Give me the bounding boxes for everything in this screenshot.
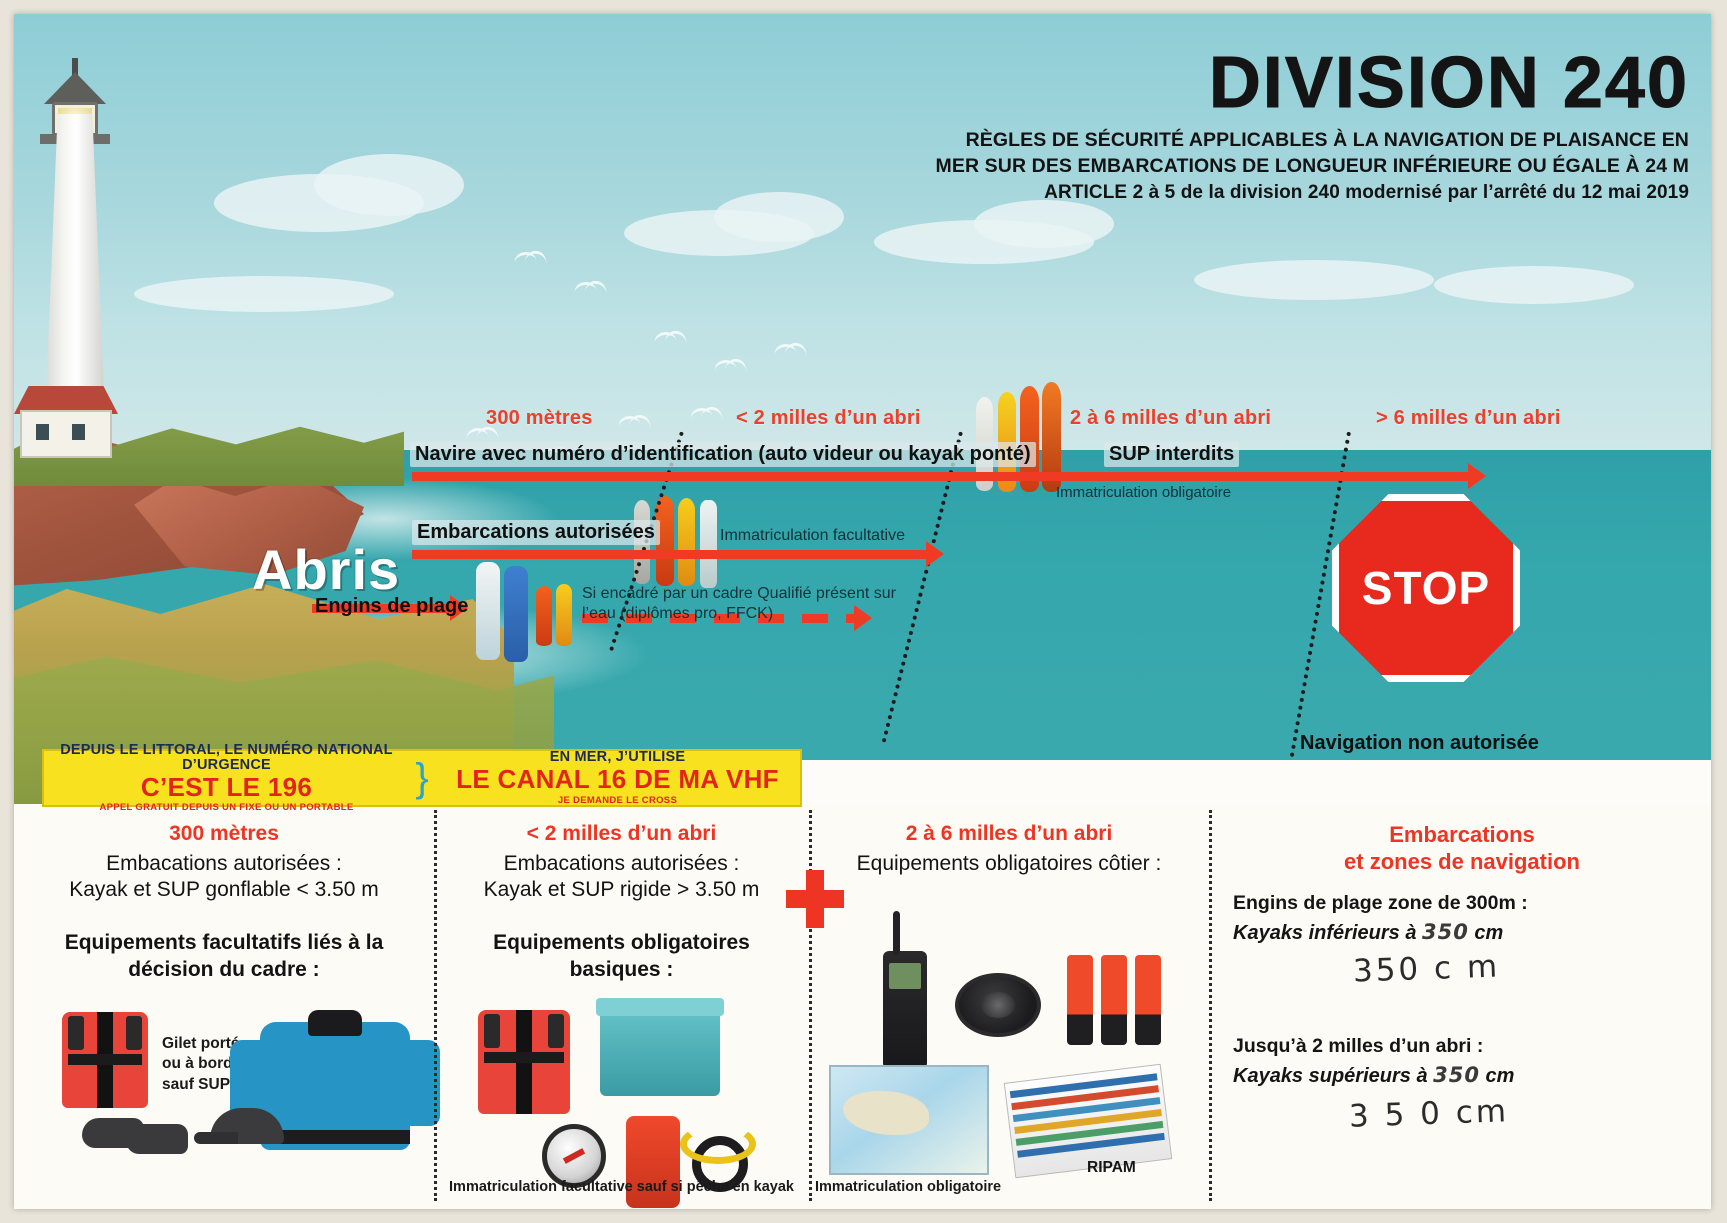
band-label-engins-de-plage: Engins de plage (310, 594, 473, 619)
brace-divider-icon: } (409, 758, 435, 798)
emergency-left-line2: C’EST LE 196 (44, 774, 409, 801)
band-label-embarcations: Embarcations autorisées (412, 520, 660, 545)
column-300m-equipment: Gilet porté ou à bord sauf SUP (24, 996, 424, 1223)
band-note-encadrement-l1: Si encadré par un cadre Qualifié présent… (582, 584, 896, 604)
cloud (714, 192, 844, 242)
header: DIVISION 240 RÈGLES DE SÉCURITÉ APPLICAB… (936, 48, 1690, 207)
vhf-radio-icon (883, 951, 927, 1069)
column-2-6milles-line1: Equipements obligatoires côtier : (819, 851, 1199, 877)
lifejacket-icon (62, 1012, 148, 1108)
keeper-window (72, 424, 85, 440)
column-300m-title: 300 mètres (24, 822, 424, 846)
column-c4-handwritten-2-wrap: 3 5 0 cm (1233, 1096, 1691, 1132)
column-c4-handwritten-inline-2: 350 (1433, 1063, 1480, 1087)
column-2milles-sub2: basiques : (444, 957, 799, 984)
kayak-icon (678, 498, 695, 586)
column-2-6milles-equipment: RIPAM (819, 903, 1199, 1153)
flare-icon (1101, 955, 1127, 1045)
column-c4-italic-1-pre: Kayaks inférieurs à (1233, 922, 1422, 944)
emergency-left-line3: APPEL GRATUIT DEPUIS UN FIXE OU UN PORTA… (44, 803, 409, 813)
stop-octagon: STOP (1332, 494, 1520, 682)
column-2milles-line2: Kayak et SUP rigide > 3.50 m (444, 877, 799, 903)
dry-box-lid (596, 998, 724, 1016)
header-subtitle: RÈGLES DE SÉCURITÉ APPLICABLES À LA NAVI… (936, 127, 1690, 207)
column-300m-sub2: décision du cadre : (24, 957, 424, 984)
header-subtitle-line3: ARTICLE 2 à 5 de la division 240 moderni… (936, 180, 1690, 206)
band-label-sup-interdits: SUP interdits (1104, 442, 1239, 467)
jacket-neck (308, 1010, 362, 1036)
column-c4-italic-2: Kayaks supérieurs à 350 cm (1233, 1063, 1691, 1088)
cloud (134, 276, 394, 312)
zone-label-2-6milles: 2 à 6 milles d’un abri (1070, 407, 1271, 430)
column-2milles-title: < 2 milles d’un abri (444, 822, 799, 846)
column-2milles-sub1: Equipements obligatoires (444, 930, 799, 957)
zone-label-300m: 300 mètres (486, 407, 593, 430)
keeper-house (20, 410, 112, 458)
emergency-left: DEPUIS LE LITTORAL, LE NUMÉRO NATIONAL D… (44, 743, 409, 814)
bow-line-icon (680, 1124, 756, 1164)
lifejacket-caption: Gilet porté ou à bord sauf SUP (162, 1034, 240, 1096)
column-2-6milles-title: 2 à 6 milles d’un abri (819, 822, 1199, 846)
column-300m-line1: Embacations autorisées : (24, 851, 424, 877)
dry-box-icon (600, 1010, 720, 1096)
column-c4-italic-1-post: cm (1469, 922, 1503, 944)
lifejacket-strap (548, 1014, 564, 1048)
abris-label: Abris (252, 537, 400, 602)
column-embarcations-zones: Embarcations et zones de navigation Engi… (1209, 804, 1709, 1209)
column-c4-heading-1: Engins de plage zone de 300m : (1233, 892, 1691, 915)
column-c4-handwritten-2: 3 5 0 cm (1348, 1093, 1509, 1135)
arrow-band-1 (412, 472, 1470, 481)
band-label-navire: Navire avec numéro d’identification (aut… (410, 442, 1036, 467)
column-2milles-footnote: Immatriculation facultative sauf si pêch… (434, 1179, 809, 1195)
lifejacket-strap (68, 1016, 84, 1050)
emergency-right-line2: LE CANAL 16 DE MA VHF (435, 766, 800, 793)
emergency-right: EN MER, J’UTILISE LE CANAL 16 DE MA VHF … (435, 750, 800, 805)
column-c4-italic-2-post: cm (1480, 1065, 1514, 1087)
column-divider (809, 810, 812, 1201)
lifejacket-caption-l2: ou à bord (162, 1054, 240, 1075)
page-title: DIVISION 240 (936, 48, 1690, 119)
column-c4-heading-2: Jusqu’à 2 milles d’un abri : (1233, 1035, 1691, 1058)
lifejacket-caption-l1: Gilet porté (162, 1034, 240, 1055)
cloud (1434, 266, 1634, 304)
column-c4-handwritten-1-wrap: 350 c m (1233, 951, 1691, 987)
flare-icon (1067, 955, 1093, 1045)
bottom-panels: 300 mètres Embacations autorisées : Kaya… (14, 804, 1711, 1209)
emergency-right-line3: JE DEMANDE LE CROSS (435, 796, 800, 806)
stop-sign-text: STOP (1362, 561, 1490, 615)
column-c4-title-line1: Embarcations (1233, 822, 1691, 849)
arrow-band-2 (412, 550, 928, 559)
ripam-label: RIPAM (1087, 1159, 1136, 1177)
foghorn-icon (955, 973, 1041, 1037)
stop-sign: STOP (1332, 494, 1520, 682)
column-c4-handwritten-1: 350 c m (1352, 948, 1500, 989)
poster-root: DIVISION 240 RÈGLES DE SÉCURITÉ APPLICAB… (0, 0, 1727, 1223)
illustration-scene: DIVISION 240 RÈGLES DE SÉCURITÉ APPLICAB… (14, 14, 1711, 804)
column-c4-italic-2-pre: Kayaks supérieurs à (1233, 1065, 1433, 1087)
band-note-immat-obligatoire: Immatriculation obligatoire (1056, 484, 1231, 502)
column-2milles: < 2 milles d’un abri Embacations autoris… (434, 804, 809, 1209)
emergency-right-line1: EN MER, J’UTILISE (435, 750, 800, 765)
sup-board-icon (700, 500, 717, 588)
band-note-encadrement-l2: l’eau (diplômes pro, FFCK) (582, 604, 773, 624)
flare-icon (1135, 955, 1161, 1045)
column-300m: 300 mètres Embacations autorisées : Kaya… (14, 804, 434, 1209)
column-divider (434, 810, 437, 1201)
plus-cross-icon (786, 870, 844, 928)
band-note-immat-facultative: Immatriculation facultative (720, 526, 905, 546)
keeper-window (36, 424, 49, 440)
column-c4-italic-1: Kayaks inférieurs à 350 cm (1233, 920, 1691, 945)
column-2-6milles-footnote: Immatriculation obligatoire (809, 1179, 1209, 1195)
lifejacket-caption-l3: sauf SUP (162, 1075, 240, 1096)
emergency-left-line1: DEPUIS LE LITTORAL, LE NUMÉRO NATIONAL D… (44, 743, 409, 773)
column-300m-line2: Kayak et SUP gonflable < 3.50 m (24, 877, 424, 903)
column-300m-sub1: Equipements facultatifs liés à la (24, 930, 424, 957)
column-divider (1209, 810, 1212, 1201)
column-2milles-line1: Embacations autorisées : (444, 851, 799, 877)
vhf-screen (889, 963, 921, 989)
emergency-banner: DEPUIS LE LITTORAL, LE NUMÉRO NATIONAL D… (42, 749, 802, 807)
column-2-6milles: 2 à 6 milles d’un abri Equipements oblig… (809, 804, 1209, 1209)
bootie-icon (126, 1124, 188, 1154)
lifejacket-strap (126, 1016, 142, 1050)
cloud (974, 200, 1114, 248)
kayak-icon (536, 586, 552, 646)
column-c4-handwritten-inline-1: 350 (1422, 920, 1469, 944)
vhf-antenna (893, 911, 900, 955)
cloud (1194, 260, 1434, 300)
lifejacket-strap (484, 1014, 500, 1048)
kayak-icon (556, 584, 572, 646)
cloud (314, 154, 464, 216)
lifejacket-icon (478, 1010, 570, 1114)
header-subtitle-line1: RÈGLES DE SÉCURITÉ APPLICABLES À LA NAVI… (936, 127, 1690, 154)
zone-label-2milles: < 2 milles d’un abri (736, 407, 921, 430)
poster-sheet: DIVISION 240 RÈGLES DE SÉCURITÉ APPLICAB… (14, 14, 1711, 1209)
sup-board-icon (504, 566, 528, 662)
header-subtitle-line2: MER SUR DES EMBARCATIONS DE LONGUEUR INF… (936, 153, 1690, 180)
sup-board-icon (476, 562, 500, 660)
stop-caption: Navigation non autorisée (1300, 732, 1539, 755)
zone-label-6milles: > 6 milles d’un abri (1376, 407, 1561, 430)
nautical-chart-icon (829, 1065, 989, 1175)
column-c4-title-line2: et zones de navigation (1233, 849, 1691, 876)
